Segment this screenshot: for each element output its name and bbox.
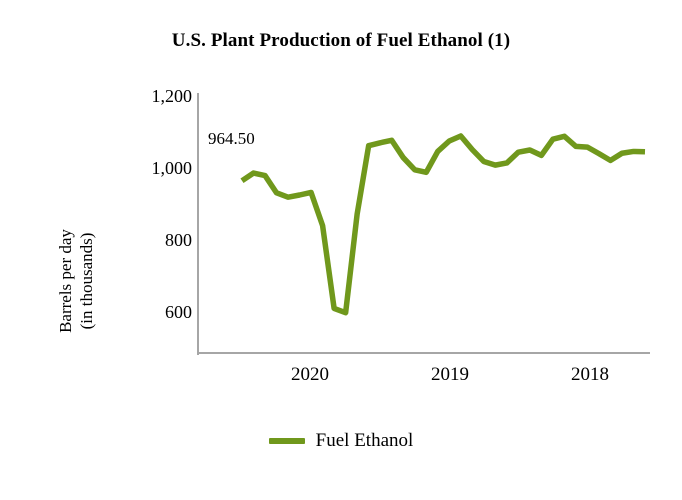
- y-tick-label: 600: [106, 302, 192, 322]
- legend-swatch-fuel-ethanol: [269, 438, 305, 444]
- legend-label-fuel-ethanol: Fuel Ethanol: [316, 430, 414, 452]
- y-axis-tick-labels: 1,200 1,000 800 600: [104, 0, 192, 500]
- y-axis-title-text: Barrels per day (in thousands): [55, 176, 97, 386]
- y-tick-label: 1,200: [106, 86, 192, 106]
- y-tick-label: 1,000: [106, 158, 192, 178]
- chart-title: U.S. Plant Production of Fuel Ethanol (1…: [0, 30, 682, 52]
- y-axis-title: Barrels per day (in thousands): [38, 110, 78, 350]
- x-tick-label-2020: 2020: [255, 364, 365, 386]
- series-line-fuel-ethanol: [242, 136, 645, 313]
- x-tick-label-2018: 2018: [535, 364, 645, 386]
- y-axis-title-line2: (in thousands): [76, 176, 97, 386]
- chart-figure: U.S. Plant Production of Fuel Ethanol (1…: [0, 0, 682, 500]
- series-plot: [0, 0, 682, 500]
- data-label-first-point: 964.50: [208, 129, 255, 149]
- y-axis-line: [197, 93, 199, 355]
- x-tick-label-2019: 2019: [395, 364, 505, 386]
- y-axis-title-line1: Barrels per day: [55, 176, 76, 386]
- chart-legend: Fuel Ethanol: [0, 430, 682, 452]
- y-tick-label: 800: [106, 230, 192, 250]
- x-axis-line: [197, 352, 650, 354]
